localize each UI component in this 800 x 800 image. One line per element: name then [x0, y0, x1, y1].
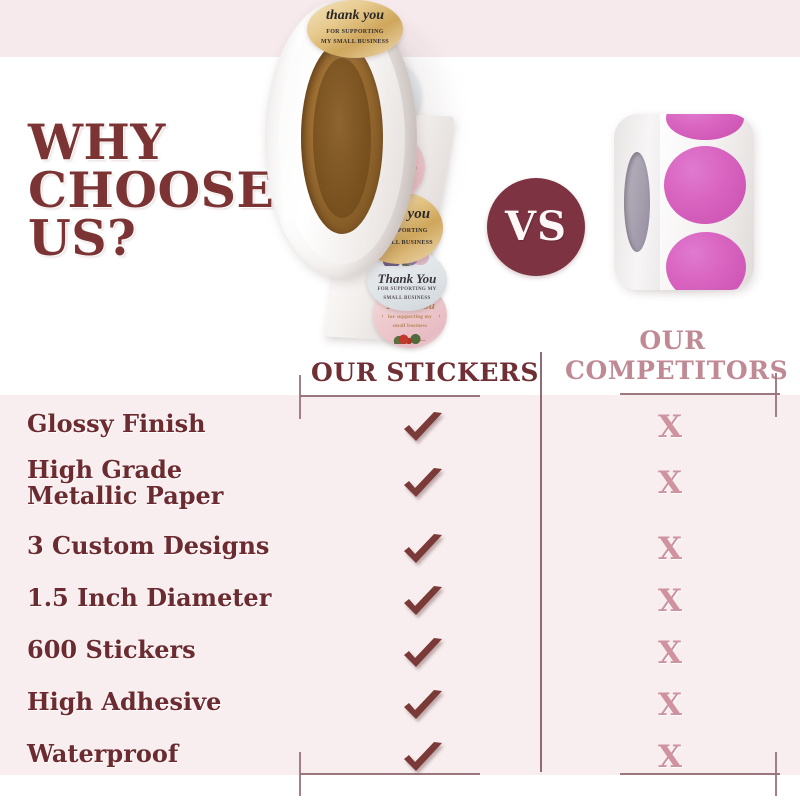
infographic-canvas: WHY CHOOSE US? Thank You for supporting …: [0, 0, 800, 800]
competitor-cross-icon: X: [645, 583, 695, 619]
our-check-icon: [400, 689, 450, 725]
competitor-dot-sticker: [664, 146, 746, 224]
competitor-roll-body: [614, 114, 754, 290]
feature-label: High Adhesive: [27, 689, 292, 715]
our-check-icon: [400, 741, 450, 777]
our-check-icon: [400, 467, 450, 503]
table-row: 600 Stickers X: [0, 637, 800, 687]
competitor-roll-side: [614, 114, 660, 290]
column-header-competitors-line-1: OUR: [565, 326, 780, 356]
roll-core: [301, 42, 383, 234]
feature-label-line-1: High Adhesive: [27, 687, 221, 716]
feature-label-line-1: Waterproof: [27, 739, 178, 768]
competitor-roll-core: [624, 152, 650, 252]
competitor-cross-icon: X: [645, 409, 695, 445]
feature-label: High Grade Metallic Paper: [27, 457, 292, 509]
table-row: Waterproof X: [0, 741, 800, 791]
table-row: High Grade Metallic Paper X: [0, 457, 800, 527]
feature-label-line-2: Metallic Paper: [27, 483, 292, 509]
feature-label: Waterproof: [27, 741, 292, 767]
feature-label: Glossy Finish: [27, 411, 292, 437]
sticker-sub-line-1: for supporting my: [373, 315, 447, 320]
our-check-icon: [400, 411, 450, 447]
competitor-cross-icon: X: [645, 635, 695, 671]
roll-core-inner: [313, 58, 371, 218]
feature-label: 600 Stickers: [27, 637, 292, 663]
competitor-cross-icon: X: [645, 531, 695, 567]
our-check-icon: [400, 585, 450, 621]
competitor-cross-icon: X: [645, 465, 695, 501]
feature-label-line-1: 3 Custom Designs: [27, 531, 269, 560]
competitor-dot-sticker: [666, 232, 746, 290]
table-row: High Adhesive X: [0, 689, 800, 739]
vs-badge: VS: [487, 178, 585, 276]
sticker-sub-line-1: FOR SUPPORTING MY: [367, 287, 447, 292]
sticker-sub-line-2: MY SMALL BUSINESS: [307, 39, 403, 45]
our-check-icon: [400, 637, 450, 673]
column-header-our-competitors: OUR COMPETITORS: [565, 326, 780, 386]
competitor-cross-icon: X: [645, 687, 695, 723]
competitor-cross-icon: X: [645, 739, 695, 775]
competitor-sticker-roll-image: [608, 110, 768, 305]
sticker-sub-line-2: small business: [373, 324, 447, 329]
column-header-our-stickers: OUR STICKERS: [305, 358, 545, 388]
table-row: 1.5 Inch Diameter X: [0, 585, 800, 635]
feature-comparison-list: Glossy Finish X High Grade Metallic Pape…: [0, 395, 800, 775]
feature-label-line-1: 1.5 Inch Diameter: [27, 583, 271, 612]
column-header-competitors-line-2: COMPETITORS: [565, 356, 780, 386]
feature-label-line-1: Glossy Finish: [27, 409, 206, 438]
feature-label: 3 Custom Designs: [27, 533, 292, 559]
sticker-design-gold: thank you FOR SUPPORTING MY SMALL BUSINE…: [307, 0, 403, 58]
sticker-script-text: Thank You: [367, 271, 447, 287]
sticker-script-text: thank you: [307, 8, 403, 24]
vs-badge-label: VS: [505, 207, 567, 247]
berry-sprig-icon: [394, 334, 427, 345]
feature-label-line-1: 600 Stickers: [27, 635, 196, 664]
feature-label: 1.5 Inch Diameter: [27, 585, 292, 611]
table-row: 3 Custom Designs X: [0, 533, 800, 583]
our-sticker-roll-image: Thank You for supporting my small busine…: [255, 0, 505, 339]
sticker-sub-line-1: FOR SUPPORTING: [307, 29, 403, 35]
table-row: Glossy Finish X: [0, 411, 800, 461]
competitor-dot-sticker: [666, 114, 744, 140]
our-check-icon: [400, 533, 450, 569]
feature-label-line-1: High Grade: [27, 455, 182, 484]
sticker-sub-line-2: SMALL BUSINESS: [367, 296, 447, 301]
